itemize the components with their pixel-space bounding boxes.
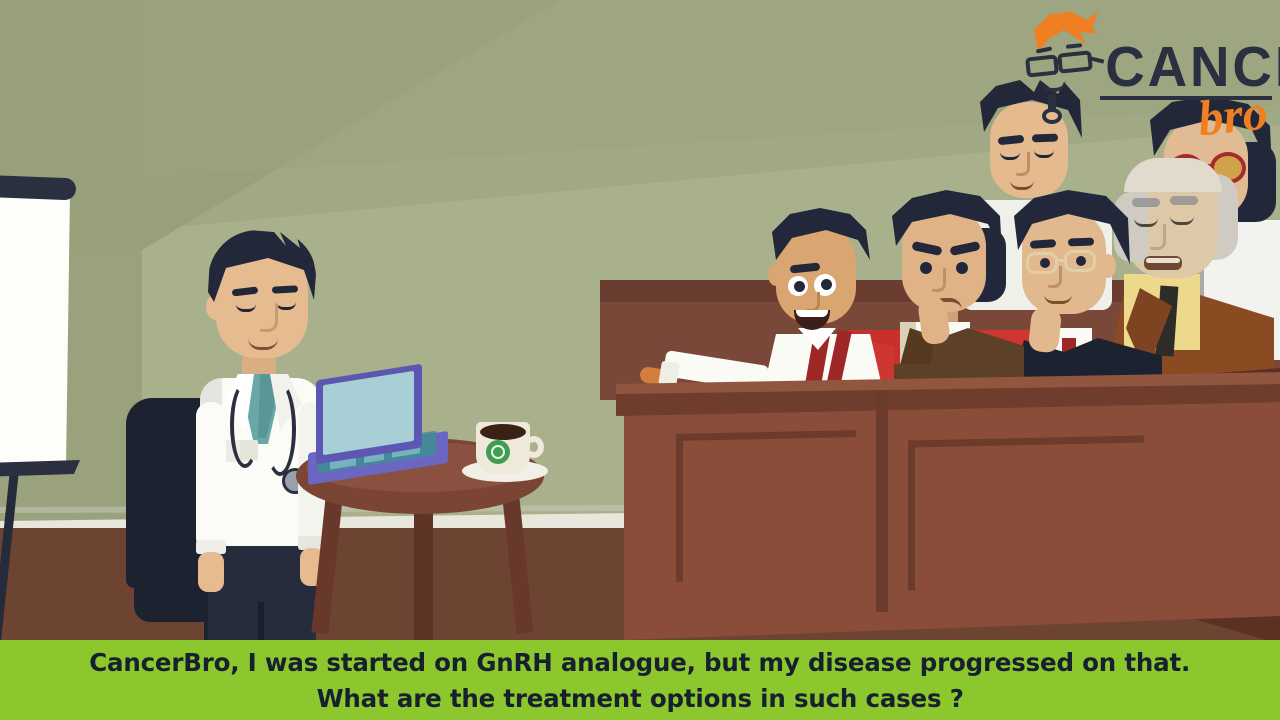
- subtitle-band: CancerBro, I was started on GnRH analogu…: [0, 640, 1280, 720]
- mascot-smile-icon: [1040, 80, 1066, 92]
- person-nose: [1048, 266, 1062, 288]
- flipchart-clamp: [0, 174, 76, 201]
- person-teeth: [796, 310, 828, 317]
- coffee-cup: [462, 416, 548, 488]
- audience-speaking-man: [742, 206, 922, 406]
- table-leg: [311, 493, 343, 634]
- flipchart-tray: [0, 460, 80, 478]
- doctor-eyebrow-right: [272, 285, 298, 293]
- stethoscope-tube-left: [230, 382, 260, 468]
- person-nose: [1016, 152, 1030, 176]
- person-eye-right: [1076, 256, 1086, 266]
- person-nose: [806, 292, 820, 312]
- laptop: [308, 372, 458, 482]
- desk-panel-detail: [676, 430, 856, 582]
- video-frame: CANCER bro CancerBro, I was started on G…: [0, 0, 1280, 720]
- cancerbro-logo: CANCER bro: [1012, 4, 1280, 152]
- person-pupil-left: [794, 281, 805, 292]
- mascot-bowtie-icon: [1042, 108, 1062, 124]
- flipchart-easel: [0, 168, 108, 588]
- person-eyebrow-right: [1170, 196, 1198, 205]
- doctor-hand-left: [198, 552, 224, 592]
- doctor-arm-left: [196, 402, 226, 552]
- person-nose: [932, 268, 946, 292]
- table-leg: [502, 493, 534, 634]
- person-eye-right: [956, 262, 968, 274]
- person-eyebrow-right: [1068, 238, 1094, 247]
- desk-divider: [876, 392, 888, 612]
- eyeglasses-bridge-icon: [1057, 259, 1066, 262]
- table-leg: [414, 500, 433, 646]
- mug-logo-inner-icon: [491, 445, 505, 459]
- desk-panel-detail: [908, 436, 1144, 591]
- flipchart-paper: [0, 186, 70, 474]
- coffee-liquid: [480, 424, 526, 440]
- mascot-glasses-bridge-icon: [1056, 60, 1062, 64]
- logo-subtext: bro: [1195, 83, 1270, 148]
- stethoscope-tube-right: [264, 382, 296, 476]
- subtitle-line-1: CancerBro, I was started on GnRH analogu…: [90, 645, 1191, 681]
- mascot-glasses-left-icon: [1025, 54, 1059, 77]
- person-pupil-right: [821, 279, 832, 290]
- laptop-screen: [323, 371, 414, 455]
- doctor-nose: [260, 304, 278, 332]
- cancerbro-mascot-face-icon: [1020, 12, 1104, 116]
- mascot-eyebrow-right-icon: [1066, 43, 1082, 49]
- subtitle-line-2: What are the treatment options in such c…: [316, 681, 963, 717]
- mascot-glasses-right-icon: [1057, 50, 1093, 73]
